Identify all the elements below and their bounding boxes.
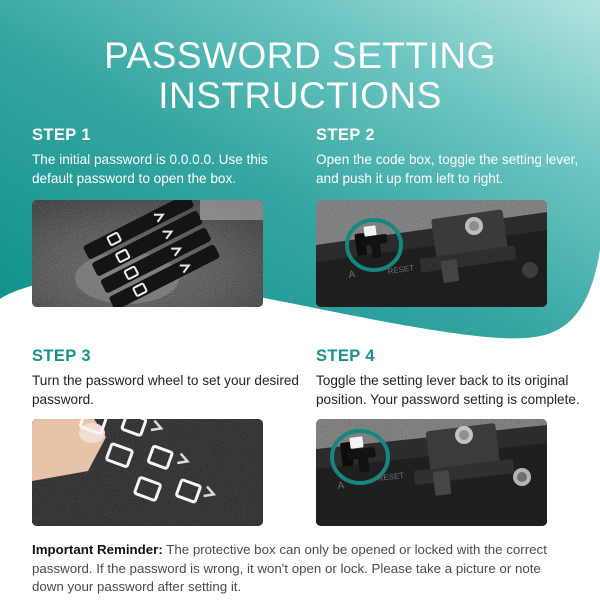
important-reminder: Important Reminder: The protective box c… [32,541,572,597]
step-3-body: Turn the password wheel to set your desi… [32,372,300,409]
step-3-photo [32,419,263,526]
important-reminder-label: Important Reminder: [32,542,163,557]
password-setting-instructions-poster: PASSWORD SETTING INSTRUCTIONS STEP 1 The… [0,0,600,600]
step-4-body: Toggle the setting lever back to its ori… [316,372,584,409]
step-1-block: STEP 1 The initial password is 0.0.0.0. … [32,126,300,307]
step-4-photo: RESET A [316,419,547,526]
step-1-body: The initial password is 0.0.0.0. Use thi… [32,151,300,188]
step-2-block: STEP 2 Open the code box, toggle the set… [316,126,584,307]
step-1-photo [32,200,263,307]
page-title-line-2: INSTRUCTIONS [0,76,600,116]
page-title-line-1: PASSWORD SETTING [0,36,600,76]
step-1-heading: STEP 1 [32,126,300,144]
step-2-photo: RESET A [316,200,547,307]
step-2-body: Open the code box, toggle the setting le… [316,151,584,188]
step-2-heading: STEP 2 [316,126,584,144]
page-title: PASSWORD SETTING INSTRUCTIONS [0,36,600,116]
step-3-heading: STEP 3 [32,347,300,365]
step-3-block: STEP 3 Turn the password wheel to set yo… [32,347,300,526]
step-4-heading: STEP 4 [316,347,584,365]
step-4-block: STEP 4 Toggle the setting lever back to … [316,347,584,526]
